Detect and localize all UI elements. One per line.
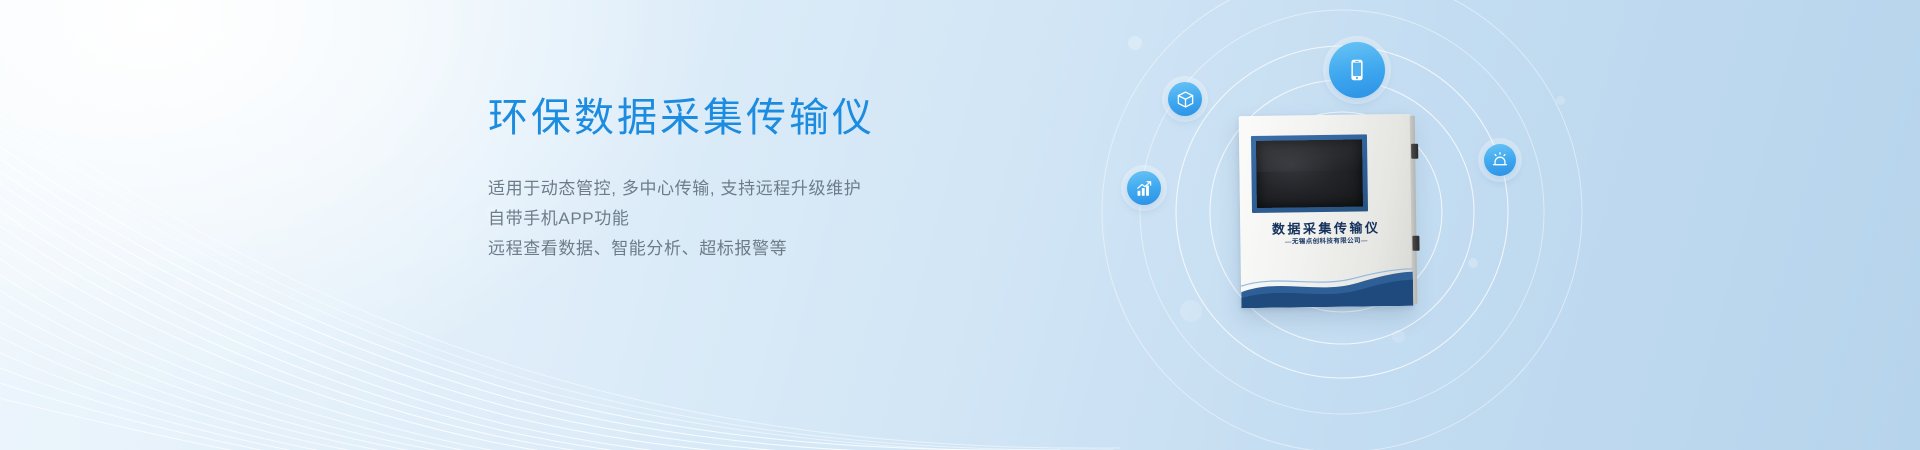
bar-chart-icon — [1135, 179, 1154, 198]
device-screen-bezel — [1251, 134, 1368, 213]
feature-item: 自带手机APP功能 — [488, 204, 875, 234]
badge-alarm[interactable] — [1484, 144, 1516, 176]
feature-item: 远程查看数据、智能分析、超标报警等 — [488, 234, 875, 264]
device-wave-graphic — [1241, 260, 1414, 308]
badge-chart[interactable] — [1127, 171, 1161, 205]
data-acquisition-device: 数据采集传输仪 —无锡点创科技有限公司— — [1239, 114, 1414, 308]
badge-cube[interactable] — [1168, 82, 1202, 116]
feature-list: 适用于动态管控, 多中心传输, 支持远程升级维护 自带手机APP功能 远程查看数… — [488, 174, 875, 264]
feature-item: 适用于动态管控, 多中心传输, 支持远程升级维护 — [488, 174, 875, 204]
alarm-icon — [1491, 151, 1509, 169]
device-hinge-bottom — [1412, 236, 1419, 251]
smartphone-icon — [1345, 58, 1369, 82]
device-screen — [1256, 139, 1363, 207]
hero-copy-block: 环保数据采集传输仪 适用于动态管控, 多中心传输, 支持远程升级维护 自带手机A… — [488, 96, 875, 264]
page-title: 环保数据采集传输仪 — [488, 96, 875, 141]
cube-icon — [1176, 90, 1195, 109]
device-hinge-top — [1411, 144, 1418, 159]
badge-phone[interactable] — [1329, 42, 1385, 98]
product-hero-banner: 环保数据采集传输仪 适用于动态管控, 多中心传输, 支持远程升级维护 自带手机A… — [0, 0, 1920, 450]
product-visual-group: 数据采集传输仪 —无锡点创科技有限公司— — [1080, 0, 1640, 450]
